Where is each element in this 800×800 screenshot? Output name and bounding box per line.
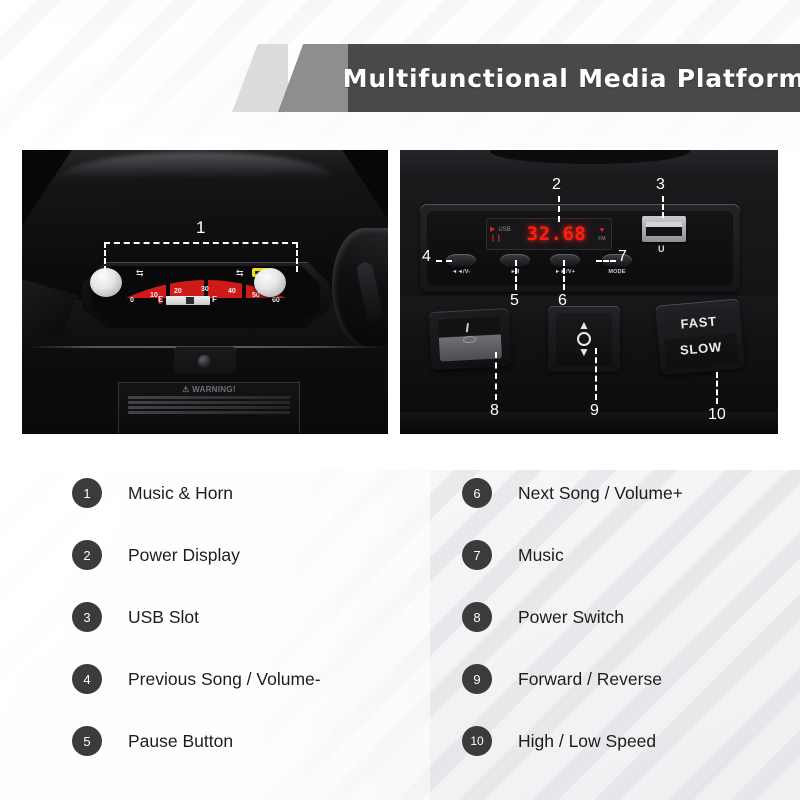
music-horn-button-left[interactable] bbox=[90, 268, 122, 297]
fuel-gauge-bar bbox=[166, 296, 210, 305]
callout-1-bracket-top bbox=[104, 242, 298, 244]
legend-badge: 5 bbox=[72, 726, 102, 756]
next-song-button[interactable] bbox=[550, 254, 580, 267]
photo-row: ⚠ WARNING! 0 10 20 30 40 50 60 bbox=[22, 150, 778, 434]
fast-label: FAST bbox=[662, 312, 735, 333]
power-switch[interactable] bbox=[429, 308, 512, 370]
led-display: ▶ USB ❙❙ 32.68 ♥ FM bbox=[486, 218, 612, 250]
mode-button-label: MODE bbox=[594, 269, 640, 275]
fm-mode-label: FM bbox=[598, 236, 605, 242]
power-off-mark-icon bbox=[463, 336, 476, 344]
legend-item: 10 High / Low Speed bbox=[462, 710, 800, 772]
legend-item: 9 Forward / Reverse bbox=[462, 648, 800, 710]
gauge-tick: 30 bbox=[201, 286, 209, 293]
arrow-up-icon: ▲ bbox=[578, 320, 590, 331]
legend-badge: 7 bbox=[462, 540, 492, 570]
callout-1-bracket-left bbox=[104, 242, 106, 272]
callout-number-4: 4 bbox=[422, 248, 431, 266]
callout-7-leader bbox=[596, 260, 616, 262]
legend-label: Music & Horn bbox=[128, 483, 233, 504]
gauge-tick: 20 bbox=[174, 288, 182, 295]
speed-switch[interactable]: FAST SLOW bbox=[655, 298, 745, 375]
dashboard-photo: ⚠ WARNING! 0 10 20 30 40 50 60 bbox=[22, 150, 388, 434]
music-horn-button-right[interactable] bbox=[254, 268, 286, 297]
legend-label: Next Song / Volume+ bbox=[518, 483, 683, 504]
gauge-tick: 60 bbox=[272, 297, 280, 304]
legend-badge: 1 bbox=[72, 478, 102, 508]
slow-label: SLOW bbox=[664, 338, 737, 359]
callout-1-bracket-right bbox=[296, 242, 298, 272]
turn-signal-left-icon: ⇆ bbox=[136, 268, 144, 279]
warning-plate: ⚠ WARNING! bbox=[118, 382, 300, 433]
legend-item: 4 Previous Song / Volume- bbox=[72, 648, 452, 710]
callout-number-8: 8 bbox=[490, 402, 499, 420]
legend-item: 8 Power Switch bbox=[462, 586, 800, 648]
legend-label: Pause Button bbox=[128, 731, 233, 752]
usb-mode-label: USB bbox=[498, 227, 510, 233]
fuel-empty-label: E bbox=[158, 295, 163, 304]
callout-6-leader bbox=[563, 260, 565, 290]
legend-badge: 9 bbox=[462, 664, 492, 694]
led-display-right-indicators: ♥ FM bbox=[593, 227, 611, 242]
header: Multifunctional Media Platform bbox=[0, 44, 800, 124]
speed-switch-rocker: FAST SLOW bbox=[662, 305, 739, 369]
media-panel-photo: ▶ USB ❙❙ 32.68 ♥ FM U bbox=[400, 150, 778, 434]
legend-badge: 10 bbox=[462, 726, 492, 756]
warning-plate-line bbox=[128, 411, 290, 414]
legend-label: Previous Song / Volume- bbox=[128, 669, 321, 690]
callout-2-leader bbox=[558, 196, 560, 222]
warning-plate-title: ⚠ WARNING! bbox=[119, 385, 299, 394]
banner-wedge-light bbox=[232, 44, 288, 112]
legend-badge: 6 bbox=[462, 478, 492, 508]
legend-label: Music bbox=[518, 545, 564, 566]
power-on-mark-icon bbox=[466, 323, 469, 332]
callout-number-5: 5 bbox=[510, 292, 519, 310]
callout-number-9: 9 bbox=[590, 402, 599, 420]
legend-label: Power Switch bbox=[518, 607, 624, 628]
legend-column-left: 1 Music & Horn 2 Power Display 3 USB Slo… bbox=[72, 462, 452, 772]
fuel-full-label: F bbox=[212, 295, 217, 304]
legend-label: Forward / Reverse bbox=[518, 669, 662, 690]
legend-column-right: 6 Next Song / Volume+ 7 Music 8 Power Sw… bbox=[462, 462, 800, 772]
legend-label: High / Low Speed bbox=[518, 731, 656, 752]
legend-label: Power Display bbox=[128, 545, 240, 566]
next-song-button-label: ►►/V+ bbox=[542, 269, 588, 275]
callout-10-leader bbox=[716, 372, 718, 404]
legend-item: 3 USB Slot bbox=[72, 586, 452, 648]
forward-reverse-switch[interactable]: ▲ ▼ bbox=[556, 313, 612, 365]
warning-plate-line bbox=[128, 401, 290, 404]
callout-number-2: 2 bbox=[552, 176, 561, 194]
callout-number-3: 3 bbox=[656, 176, 665, 194]
pause-icon: ❙❙ bbox=[490, 235, 502, 242]
callout-number-1: 1 bbox=[196, 218, 205, 238]
power-switch-rocker bbox=[438, 316, 502, 361]
legend-item: 7 Music bbox=[462, 524, 800, 586]
legend-badge: 4 bbox=[72, 664, 102, 694]
title-banner: Multifunctional Media Platform bbox=[348, 44, 800, 112]
callout-number-10: 10 bbox=[708, 406, 726, 424]
led-digits: 32.68 bbox=[520, 223, 593, 245]
legend: 1 Music & Horn 2 Power Display 3 USB Slo… bbox=[0, 462, 800, 762]
callout-5-leader bbox=[515, 260, 517, 290]
legend-badge: 8 bbox=[462, 602, 492, 632]
callout-3-leader bbox=[662, 196, 664, 218]
volume-icon: ♥ bbox=[600, 227, 604, 234]
usb-slot[interactable] bbox=[642, 216, 686, 242]
play-icon: ▶ bbox=[490, 226, 495, 233]
callout-number-6: 6 bbox=[558, 292, 567, 310]
legend-label: USB Slot bbox=[128, 607, 199, 628]
infographic-page: Multifunctional Media Platform ⚠ WARNING… bbox=[0, 0, 800, 800]
callout-4-leader bbox=[436, 260, 452, 262]
turn-signal-right-icon: ⇆ bbox=[236, 268, 244, 279]
legend-badge: 3 bbox=[72, 602, 102, 632]
legend-item: 5 Pause Button bbox=[72, 710, 452, 772]
callout-number-7: 7 bbox=[618, 248, 627, 266]
warning-plate-line bbox=[128, 396, 290, 399]
legend-item: 2 Power Display bbox=[72, 524, 452, 586]
banner-wedge-grey bbox=[278, 44, 348, 112]
gauge-tick: 40 bbox=[228, 288, 236, 295]
neutral-circle-icon bbox=[577, 332, 591, 346]
callout-8-leader bbox=[495, 352, 497, 400]
page-title: Multifunctional Media Platform bbox=[343, 64, 800, 93]
gauge-tick: 0 bbox=[130, 297, 134, 304]
hood-latch[interactable] bbox=[174, 346, 236, 374]
usb-slot-label: U bbox=[658, 244, 665, 254]
callout-9-leader bbox=[595, 348, 597, 400]
legend-item: 6 Next Song / Volume+ bbox=[462, 462, 800, 524]
warning-plate-line bbox=[128, 406, 290, 409]
previous-song-button-label: ◄◄/V- bbox=[438, 269, 484, 275]
arrow-down-icon: ▼ bbox=[578, 347, 590, 358]
led-display-left-indicators: ▶ USB ❙❙ bbox=[487, 226, 520, 242]
legend-item: 1 Music & Horn bbox=[72, 462, 452, 524]
legend-badge: 2 bbox=[72, 540, 102, 570]
